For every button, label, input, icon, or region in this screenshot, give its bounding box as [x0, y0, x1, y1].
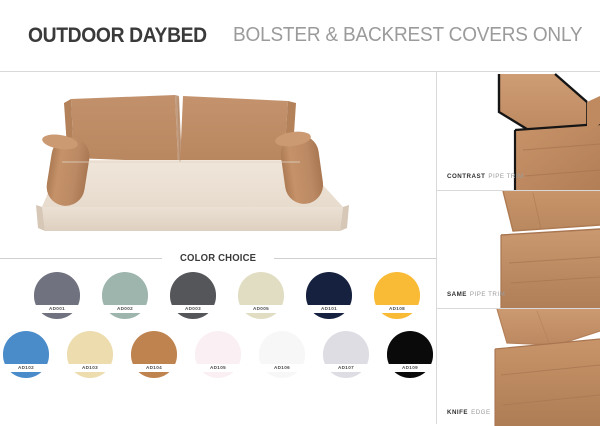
swatch-pill[interactable]: AD104	[131, 331, 177, 378]
swatch-code: AD002	[102, 305, 148, 313]
swatch-code: AD106	[259, 364, 305, 372]
page-title: OUTDOOR DAYBED	[28, 24, 207, 48]
swatch-pill[interactable]: AD102	[3, 331, 49, 378]
swatch-pill[interactable]: AD106	[259, 331, 305, 378]
color-swatch-grid: AD001 AD002 AD003 AD005	[0, 272, 436, 378]
swatch-code: AD104	[131, 364, 177, 372]
color-swatch[interactable]: AD103	[67, 331, 113, 378]
swatch-code: AD001	[34, 305, 80, 313]
color-swatch[interactable]: AD107	[323, 331, 369, 378]
swatch-pill[interactable]: AD109	[387, 331, 433, 378]
swatch-pill[interactable]: AD103	[67, 331, 113, 378]
caption-strong: CONTRAST	[447, 173, 485, 180]
rule-right	[274, 258, 436, 259]
color-choice-label: COLOR CHOICE	[165, 253, 272, 264]
swatch-pill[interactable]: AD005	[238, 272, 284, 319]
detail-panel-same-pipe-trim: SAMEPIPE TRIM	[437, 190, 600, 308]
detail-panel-contrast-pipe-trim: CONTRASTPIPE TRIM	[437, 72, 600, 190]
color-swatch[interactable]: AD003	[170, 272, 216, 319]
swatch-code: AD103	[67, 364, 113, 372]
daybed-hero-image	[0, 72, 436, 242]
color-swatch[interactable]: AD005	[238, 272, 284, 319]
color-swatch[interactable]: AD108	[374, 272, 420, 319]
swatch-pill[interactable]: AD001	[34, 272, 80, 319]
color-swatch[interactable]: AD106	[259, 331, 305, 378]
caption-light: EDGE	[471, 409, 491, 416]
swatch-pill[interactable]: AD108	[374, 272, 420, 319]
detail-panels-column: CONTRASTPIPE TRIM	[437, 72, 600, 424]
page-subtitle: BOLSTER & BACKREST COVERS ONLY	[233, 24, 582, 47]
color-swatch[interactable]: AD104	[131, 331, 177, 378]
color-swatch[interactable]: AD105	[195, 331, 241, 378]
color-choice-heading: COLOR CHOICE	[0, 244, 436, 272]
panel-caption: SAMEPIPE TRIM	[447, 284, 505, 300]
page-header: OUTDOOR DAYBED BOLSTER & BACKREST COVERS…	[0, 0, 600, 72]
caption-light: PIPE TRIM	[488, 173, 523, 180]
swatch-code: AD003	[170, 305, 216, 313]
color-swatch[interactable]: AD002	[102, 272, 148, 319]
swatch-pill[interactable]: AD107	[323, 331, 369, 378]
color-swatch[interactable]: AD102	[3, 331, 49, 378]
swatch-code: AD101	[306, 305, 352, 313]
swatch-code: AD005	[238, 305, 284, 313]
detail-panel-knife-edge: KNIFEEDGE	[437, 308, 600, 426]
swatch-code: AD108	[374, 305, 420, 313]
caption-light: PIPE TRIM	[470, 291, 505, 298]
swatch-pill[interactable]: AD101	[306, 272, 352, 319]
panel-caption: KNIFEEDGE	[447, 402, 491, 418]
swatch-code: AD102	[3, 364, 49, 372]
swatch-code: AD105	[195, 364, 241, 372]
left-column: COLOR CHOICE AD001 AD002 AD003	[0, 72, 437, 424]
color-swatch[interactable]: AD101	[306, 272, 352, 319]
rule-left	[0, 258, 162, 259]
swatch-code: AD109	[387, 364, 433, 372]
product-spec-sheet: OUTDOOR DAYBED BOLSTER & BACKREST COVERS…	[0, 0, 600, 424]
swatch-pill[interactable]: AD002	[102, 272, 148, 319]
panel-caption: CONTRASTPIPE TRIM	[447, 166, 524, 182]
color-swatch[interactable]: AD109	[387, 331, 433, 378]
swatch-row-2: AD102 AD103 AD104 AD105	[0, 331, 436, 378]
caption-strong: SAME	[447, 291, 467, 298]
color-swatch[interactable]: AD001	[34, 272, 80, 319]
swatch-pill[interactable]: AD105	[195, 331, 241, 378]
caption-strong: KNIFE	[447, 409, 468, 416]
swatch-code: AD107	[323, 364, 369, 372]
swatch-pill[interactable]: AD003	[170, 272, 216, 319]
swatch-row-1: AD001 AD002 AD003 AD005	[0, 272, 436, 319]
